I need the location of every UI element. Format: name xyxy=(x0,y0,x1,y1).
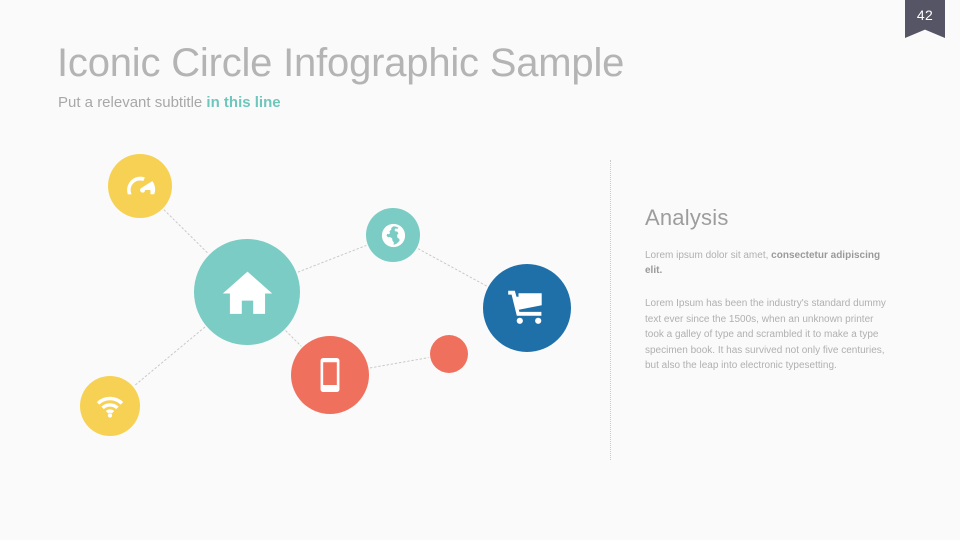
shopping-cart-icon xyxy=(503,284,551,332)
infographic-node-home[interactable] xyxy=(194,239,300,345)
wifi-icon xyxy=(94,390,126,422)
circle-infographic xyxy=(0,0,620,540)
connector-line-speedometer-to-home xyxy=(164,210,208,253)
infographic-node-dot[interactable] xyxy=(430,335,468,373)
connector-line-home-to-globe xyxy=(298,246,366,272)
infographic-node-globe[interactable] xyxy=(366,208,420,262)
analysis-body-paragraph: Lorem Ipsum has been the industry's stan… xyxy=(645,296,893,374)
infographic-node-cart[interactable] xyxy=(483,264,571,352)
globe-icon xyxy=(379,221,408,250)
smartphone-icon xyxy=(309,354,351,396)
analysis-lead-paragraph: Lorem ipsum dolor sit amet, consectetur … xyxy=(645,249,893,278)
infographic-node-wifi[interactable] xyxy=(80,376,140,436)
connector-line-home-to-phone xyxy=(286,331,301,346)
connector-line-globe-to-cart xyxy=(418,249,486,286)
infographic-node-speedometer[interactable] xyxy=(108,154,172,218)
home-icon xyxy=(219,264,276,321)
speedometer-icon xyxy=(123,169,158,204)
analysis-lead-plain: Lorem ipsum dolor sit amet, xyxy=(645,250,771,261)
analysis-panel: Analysis Lorem ipsum dolor sit amet, con… xyxy=(645,205,893,374)
vertical-divider xyxy=(610,160,611,460)
connector-line-phone-to-dot xyxy=(370,358,428,368)
page-number-badge: 42 xyxy=(905,0,945,38)
slide-canvas: 42 Iconic Circle Infographic Sample Put … xyxy=(0,0,960,540)
infographic-node-phone[interactable] xyxy=(291,336,369,414)
connector-line-home-to-wifi xyxy=(135,327,205,385)
analysis-title: Analysis xyxy=(645,205,893,231)
